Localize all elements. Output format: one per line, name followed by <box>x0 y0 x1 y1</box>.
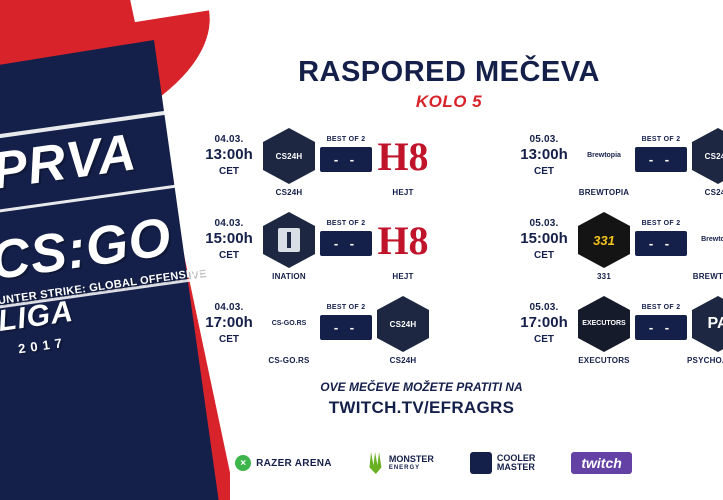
brewtopia-logo: Brewtopia <box>692 212 723 268</box>
match-score: - - <box>635 147 687 172</box>
cs24h-logo: CS24H <box>692 128 723 184</box>
team-a-name: EXECUTORS <box>573 356 635 365</box>
match-time: 17:00h <box>515 315 573 332</box>
match-result: BEST OF 2 - - <box>635 128 687 172</box>
poster-canvas: PRVA CS:GO COUNTER STRIKE: GLOBAL OFFENS… <box>0 0 723 500</box>
match-score: - - <box>635 315 687 340</box>
sponsor-twitch[interactable]: twitch <box>571 452 631 474</box>
cs24h-logo: CS24H <box>263 128 315 184</box>
sponsor-coolermaster[interactable]: COOLER MASTER <box>470 452 536 474</box>
h8-logo: H8 <box>377 128 429 184</box>
match-timezone: CET <box>200 334 258 345</box>
sponsor-monster-label: MONSTER ENERGY <box>389 455 434 471</box>
team-b-name: BREWTOPIA <box>687 272 723 281</box>
team-b[interactable]: Brewtopia BREWTOPIA <box>687 212 723 281</box>
team-a[interactable]: CS-GO.RS CS-GO.RS <box>258 296 320 365</box>
match-score: - - <box>320 147 372 172</box>
sponsor-razer[interactable]: × RAZER ARENA <box>235 455 332 471</box>
team-b-name: CS24H <box>687 188 723 197</box>
match-datetime: 05.03. 17:00h CET <box>515 296 573 345</box>
coolermaster-sub: MASTER <box>497 462 535 472</box>
ination-logo <box>263 212 315 268</box>
watch-line: OVE MEČEVE MOŽETE PRATITI NA <box>0 380 723 394</box>
team-a[interactable]: Brewtopia BREWTOPIA <box>573 128 635 197</box>
monster-icon <box>368 452 384 474</box>
coolermaster-icon <box>470 452 492 474</box>
match-time: 17:00h <box>200 315 258 332</box>
h8-logo: H8 <box>377 212 429 268</box>
team-b-name: HEJT <box>372 272 434 281</box>
match-result: BEST OF 2 - - <box>320 212 372 256</box>
monster-name: MONSTER <box>389 454 434 464</box>
team-a[interactable]: 331 331 <box>573 212 635 281</box>
team-a[interactable]: CS24H CS24H <box>258 128 320 197</box>
sponsor-bar: POWERED BY: × RAZER ARENA MONSTER ENERGY… <box>0 452 723 474</box>
match-date: 05.03. <box>515 302 573 313</box>
match-timezone: CET <box>515 334 573 345</box>
match-score: - - <box>635 231 687 256</box>
page-title: RASPORED MEČEVA <box>0 56 723 89</box>
team-a-name: CS24H <box>258 188 320 197</box>
team-a-name: CS-GO.RS <box>258 356 320 365</box>
team-b[interactable]: CS24H CS24H <box>687 128 723 197</box>
psychoactive-logo: PA <box>692 296 723 352</box>
sponsor-coolermaster-label: COOLER MASTER <box>497 454 536 473</box>
match-timezone: CET <box>200 166 258 177</box>
match-time: 15:00h <box>200 231 258 248</box>
match-result: BEST OF 2 - - <box>320 296 372 340</box>
match-format: BEST OF 2 <box>635 304 687 311</box>
match-datetime: 05.03. 15:00h CET <box>515 212 573 261</box>
match-datetime: 05.03. 13:00h CET <box>515 128 573 177</box>
match-row[interactable]: 04.03. 15:00h CET INATION BEST OF 2 - - … <box>200 212 434 296</box>
match-row[interactable]: 04.03. 13:00h CET CS24H CS24H BEST OF 2 … <box>200 128 434 212</box>
match-date: 04.03. <box>200 218 258 229</box>
team-a-name: 331 <box>573 272 635 281</box>
executors-logo: EXECUTORS <box>578 296 630 352</box>
powered-by-label: POWERED BY: <box>131 458 213 469</box>
sponsor-razer-label: RAZER ARENA <box>256 458 332 469</box>
match-time: 13:00h <box>515 147 573 164</box>
match-timezone: CET <box>515 250 573 261</box>
team-a[interactable]: INATION <box>258 212 320 281</box>
match-format: BEST OF 2 <box>320 304 372 311</box>
match-datetime: 04.03. 13:00h CET <box>200 128 258 177</box>
match-time: 13:00h <box>200 147 258 164</box>
team-b[interactable]: H8 HEJT <box>372 212 434 281</box>
team-b-name: HEJT <box>372 188 434 197</box>
team-b[interactable]: H8 HEJT <box>372 128 434 197</box>
match-row[interactable]: 05.03. 15:00h CET 331 331 BEST OF 2 - - … <box>515 212 723 296</box>
team-a[interactable]: EXECUTORS EXECUTORS <box>573 296 635 365</box>
match-row[interactable]: 05.03. 17:00h CET EXECUTORS EXECUTORS BE… <box>515 296 723 380</box>
razer-icon: × <box>235 455 251 471</box>
match-date: 04.03. <box>200 134 258 145</box>
match-score: - - <box>320 231 372 256</box>
team-a-name: BREWTOPIA <box>573 188 635 197</box>
stream-url[interactable]: TWITCH.TV/EFRAGRS <box>0 398 723 418</box>
team-b[interactable]: CS24H CS24H <box>372 296 434 365</box>
match-format: BEST OF 2 <box>320 136 372 143</box>
match-row[interactable]: 05.03. 13:00h CET Brewtopia BREWTOPIA BE… <box>515 128 723 212</box>
page-subtitle: KOLO 5 <box>0 92 723 112</box>
cs24h-logo: CS24H <box>377 296 429 352</box>
csgors-logo: CS-GO.RS <box>263 296 315 352</box>
match-result: BEST OF 2 - - <box>635 296 687 340</box>
team-b-name: CS24H <box>372 356 434 365</box>
twitch-icon: twitch <box>571 452 631 474</box>
match-column-right: 05.03. 13:00h CET Brewtopia BREWTOPIA BE… <box>515 128 723 380</box>
match-datetime: 04.03. 15:00h CET <box>200 212 258 261</box>
match-result: BEST OF 2 - - <box>635 212 687 256</box>
match-result: BEST OF 2 - - <box>320 128 372 172</box>
match-date: 05.03. <box>515 134 573 145</box>
match-time: 15:00h <box>515 231 573 248</box>
match-row[interactable]: 04.03. 17:00h CET CS-GO.RS CS-GO.RS BEST… <box>200 296 434 380</box>
team-b-name: PSYCHOACTIVE <box>687 356 723 365</box>
match-timezone: CET <box>200 250 258 261</box>
team-a-name: INATION <box>258 272 320 281</box>
match-format: BEST OF 2 <box>635 220 687 227</box>
sponsor-monster[interactable]: MONSTER ENERGY <box>368 452 434 474</box>
match-format: BEST OF 2 <box>635 136 687 143</box>
match-format: BEST OF 2 <box>320 220 372 227</box>
331-logo: 331 <box>578 212 630 268</box>
match-date: 05.03. <box>515 218 573 229</box>
brewtopia-logo: Brewtopia <box>578 128 630 184</box>
match-datetime: 04.03. 17:00h CET <box>200 296 258 345</box>
team-b[interactable]: PA PSYCHOACTIVE <box>687 296 723 365</box>
match-score: - - <box>320 315 372 340</box>
match-column-left: 04.03. 13:00h CET CS24H CS24H BEST OF 2 … <box>200 128 434 380</box>
match-timezone: CET <box>515 166 573 177</box>
monster-sub: ENERGY <box>389 465 434 472</box>
match-date: 04.03. <box>200 302 258 313</box>
